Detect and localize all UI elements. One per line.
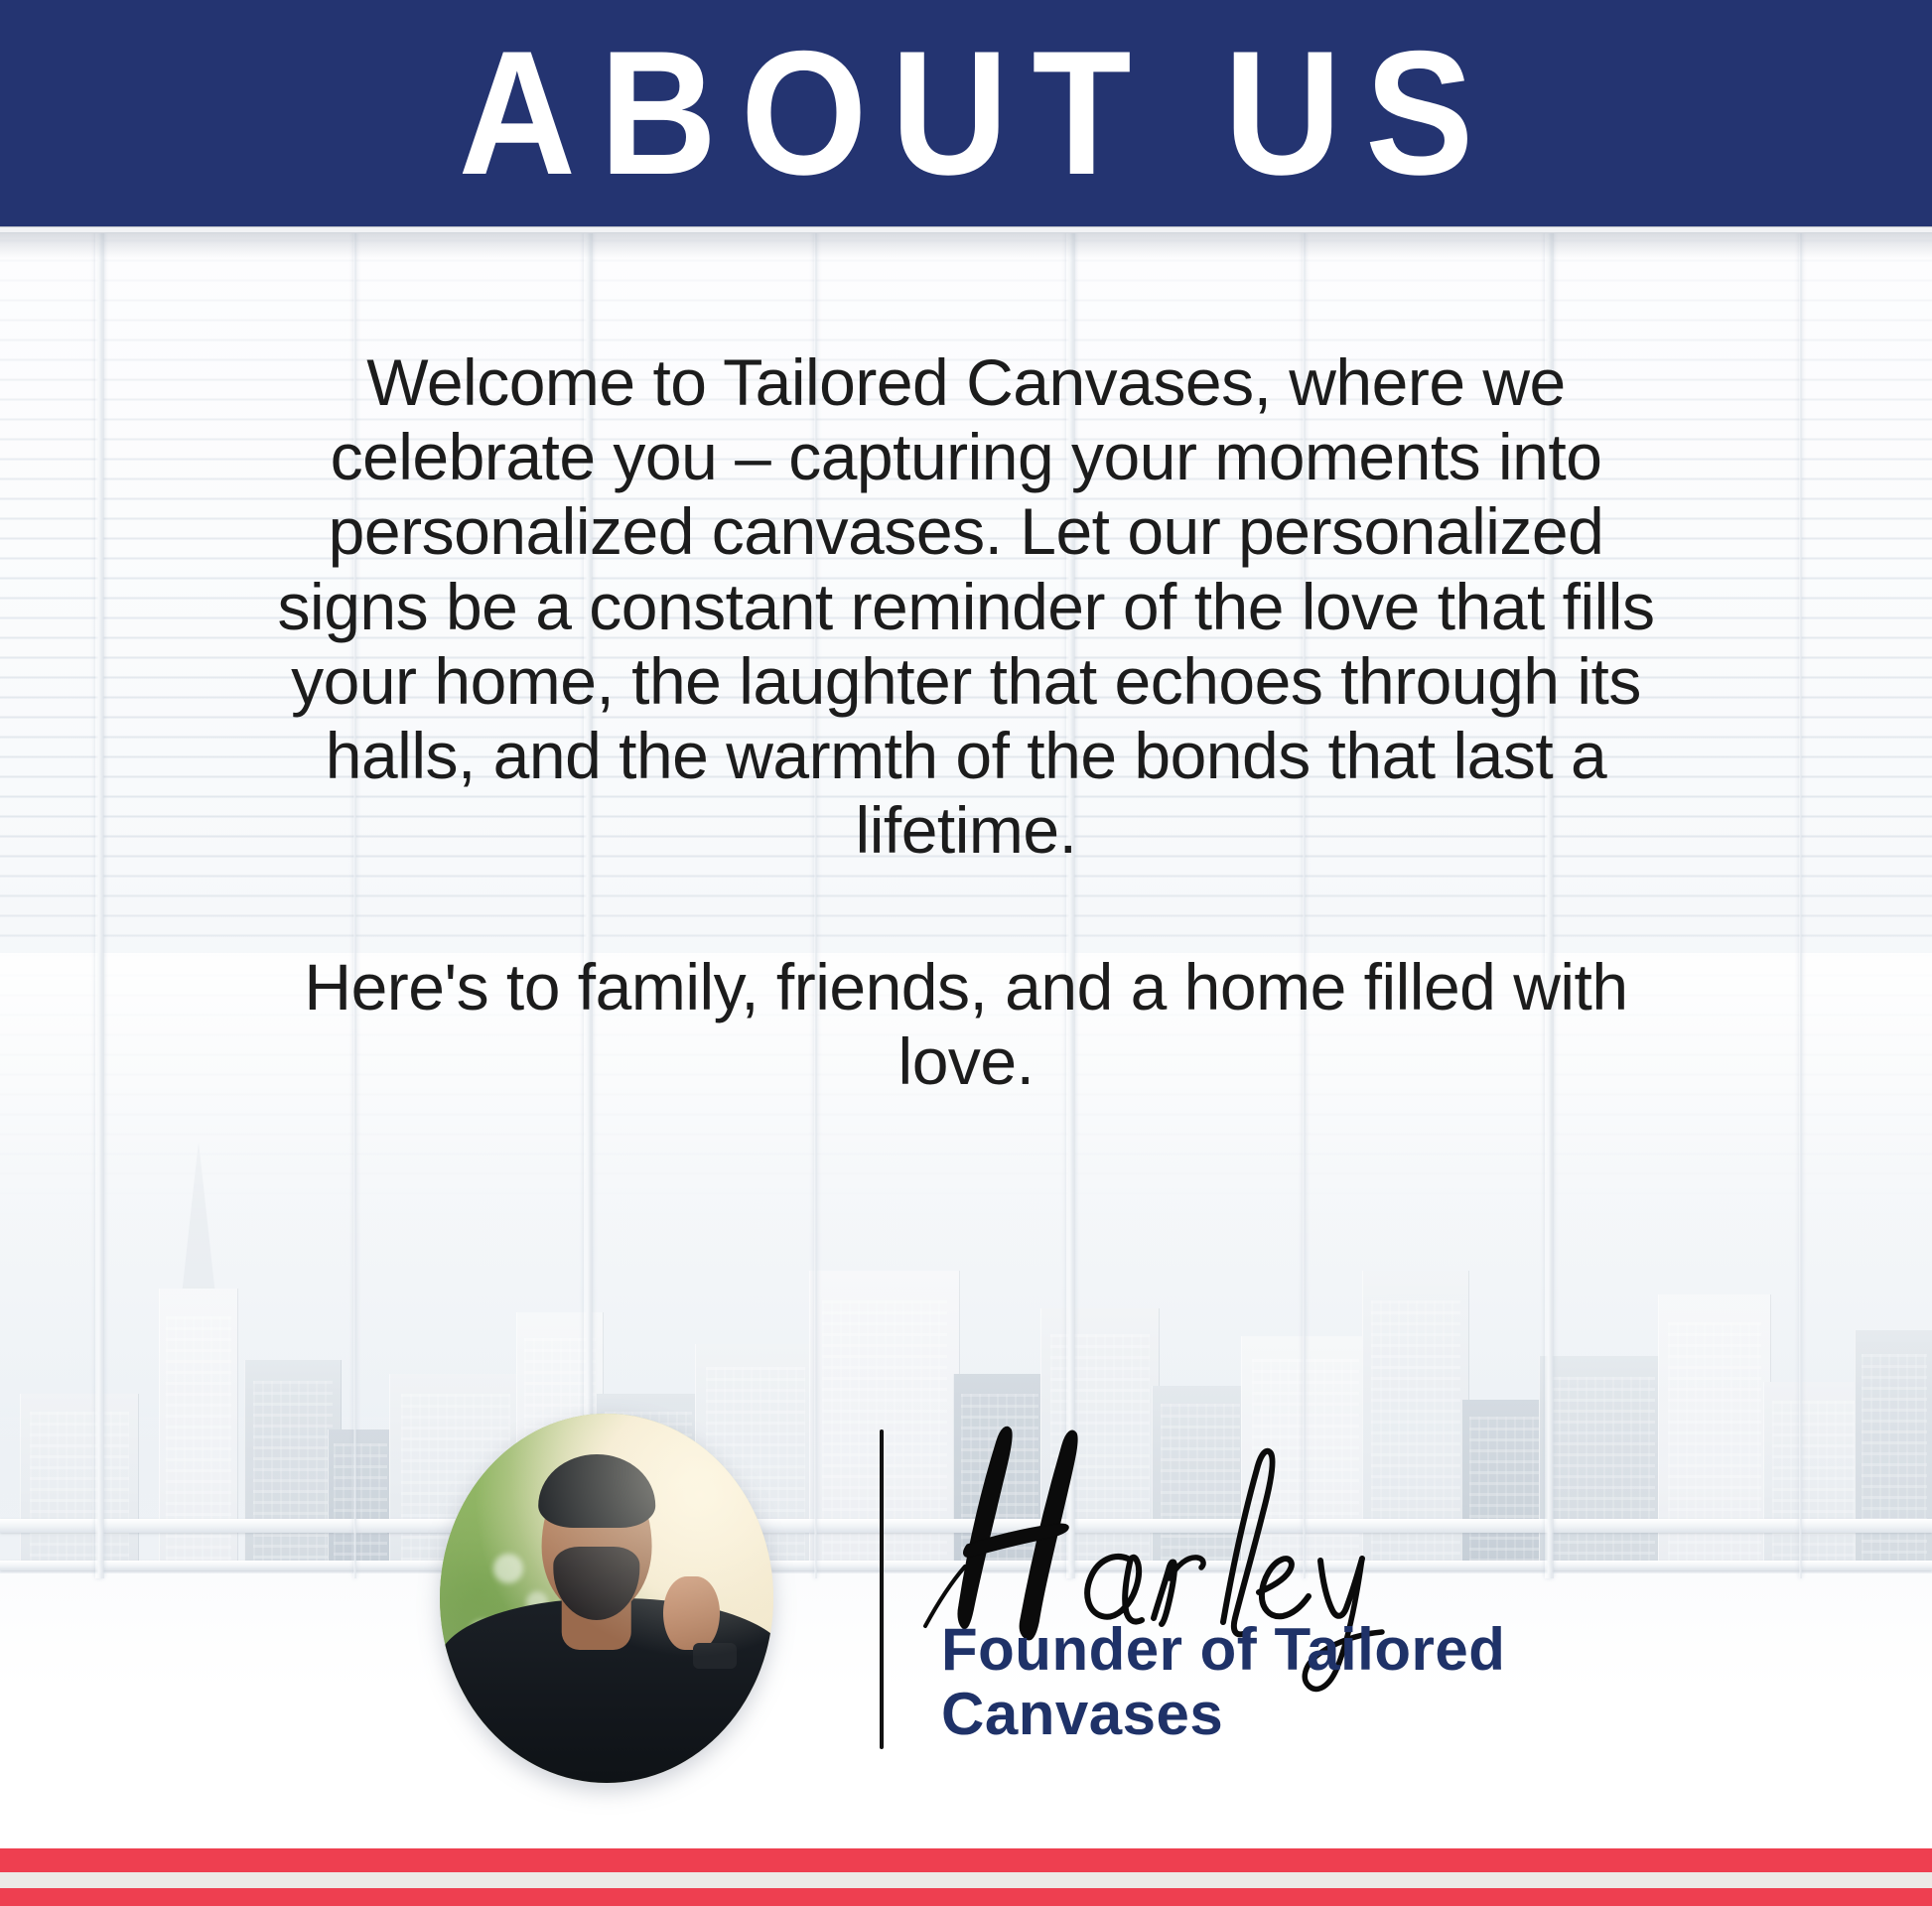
- founder-role-line-2: Canvases: [941, 1683, 1577, 1747]
- window-mullion: [1799, 230, 1802, 1578]
- body-paragraph-2: Here's to family, friends, and a home fi…: [251, 950, 1681, 1099]
- header-banner: ABOUT US: [0, 0, 1932, 226]
- founder-block: Founder of Tailored Canvases: [0, 1402, 1932, 1799]
- footer-bar-gap: [0, 1872, 1932, 1888]
- avatar: [440, 1414, 773, 1783]
- avatar-hand: [663, 1576, 720, 1650]
- about-us-poster: ABOUT US Welcome to Tailored Canvases, w…: [0, 0, 1932, 1906]
- avatar-bokeh: [493, 1554, 523, 1583]
- founder-divider: [880, 1429, 884, 1749]
- body-paragraph-1: Welcome to Tailored Canvases, where we c…: [251, 345, 1681, 869]
- about-us-body-copy: Welcome to Tailored Canvases, where we c…: [251, 345, 1681, 1099]
- founder-role-line-1: Founder of Tailored: [941, 1618, 1577, 1683]
- window-mullion: [95, 230, 104, 1578]
- avatar-watch: [693, 1643, 737, 1669]
- header-underline: [0, 226, 1932, 233]
- footer-bar-bottom: [0, 1888, 1932, 1906]
- footer-bar-top: [0, 1848, 1932, 1872]
- page-title: ABOUT US: [77, 25, 1855, 202]
- founder-role: Founder of Tailored Canvases: [941, 1618, 1577, 1747]
